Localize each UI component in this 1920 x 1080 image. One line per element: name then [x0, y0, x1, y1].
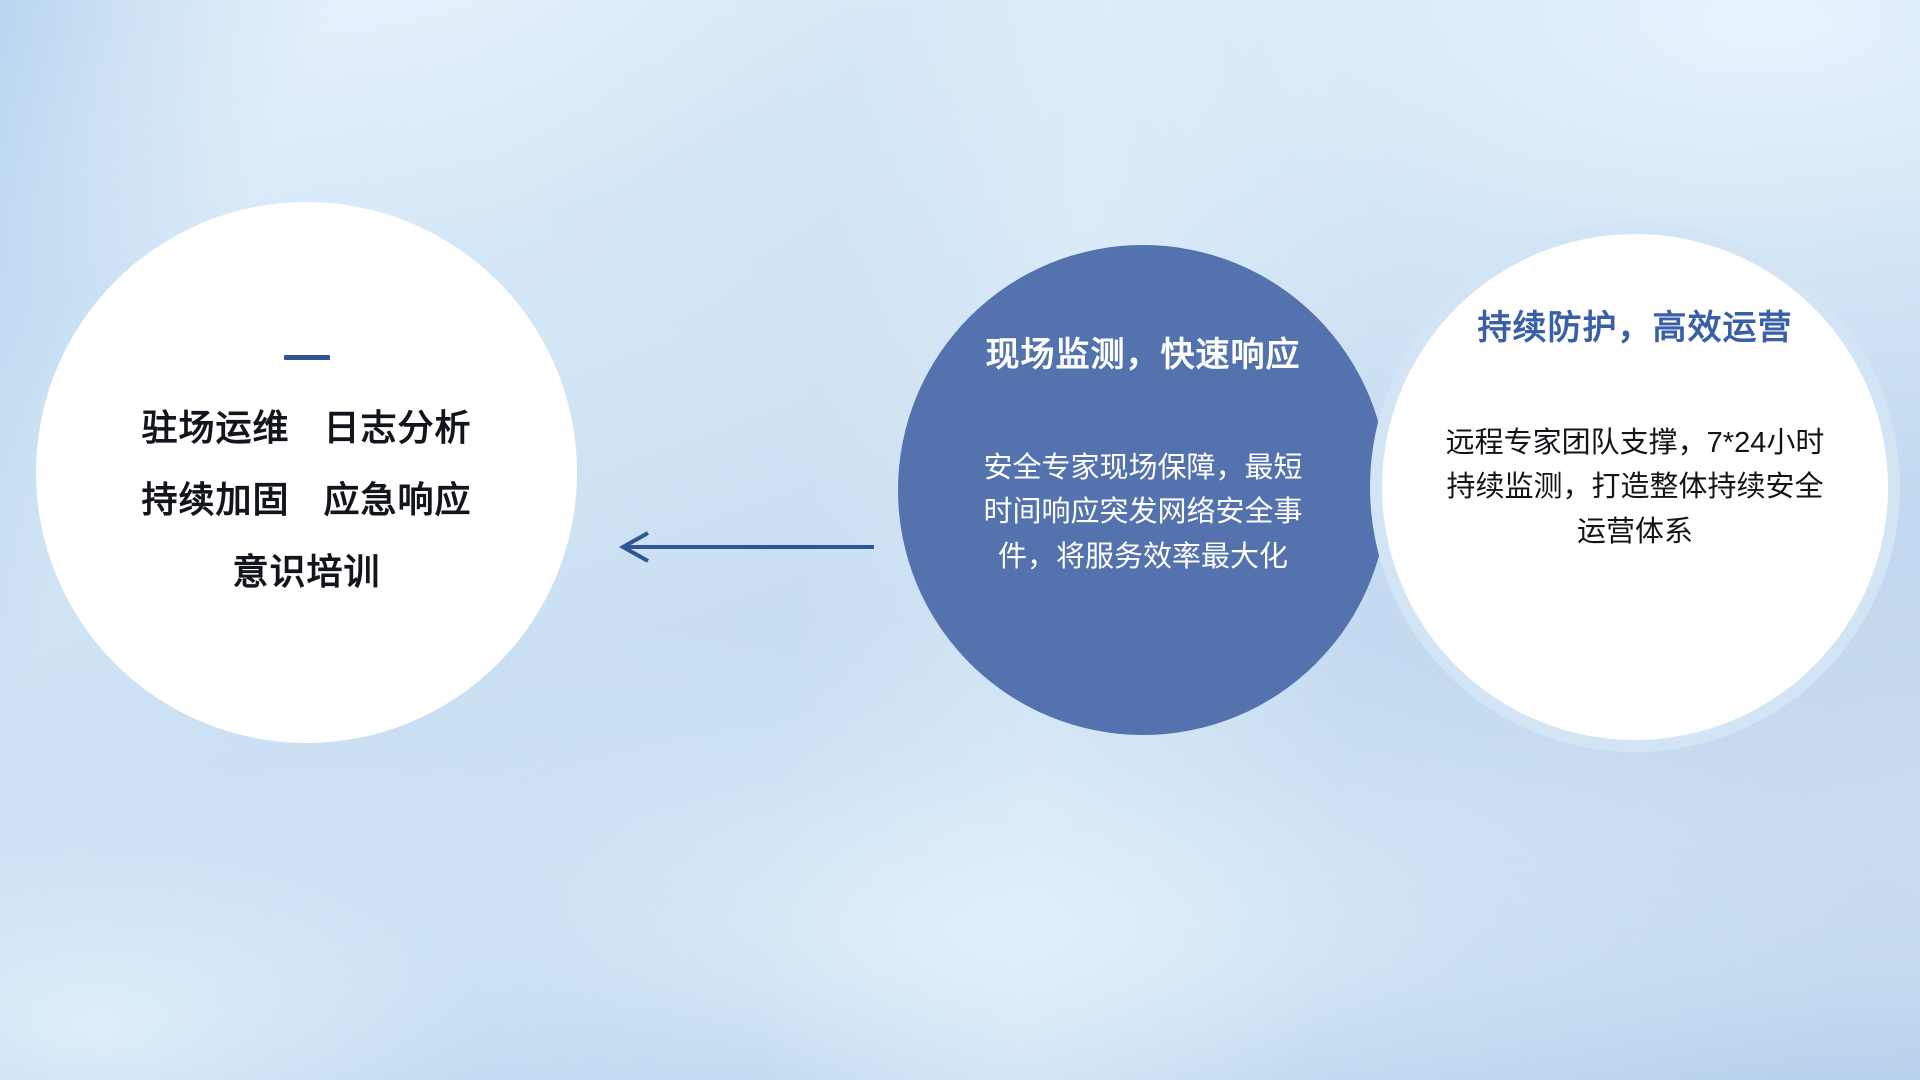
keyword-row-3: 意识培训 — [232, 554, 380, 590]
onsite-monitoring-heading: 现场监测，快速响应 — [986, 337, 1301, 374]
continuous-protection-heading: 持续防护，高效运营 — [1478, 310, 1793, 347]
continuous-protection-body: 远程专家团队支撑，7*24小时持续监测，打造整体持续安全运营体系 — [1433, 421, 1838, 553]
divider-dash — [284, 355, 330, 360]
keyword-zhuchangyunwei: 驻场运维 — [141, 410, 289, 446]
keyword-yishipeixun: 意识培训 — [232, 554, 380, 590]
keyword-rizhifenxi: 日志分析 — [324, 410, 472, 446]
continuous-protection-content: 持续防护，高效运营 远程专家团队支撑，7*24小时持续监测，打造整体持续安全运营… — [1382, 234, 1888, 740]
continuous-protection-circle[interactable]: 持续防护，高效运营 远程专家团队支撑，7*24小时持续监测，打造整体持续安全运营… — [1382, 234, 1888, 740]
keyword-row-1: 驻场运维 日志分析 — [141, 410, 471, 446]
onsite-monitoring-circle[interactable]: 现场监测，快速响应 安全专家现场保障，最短时间响应突发网络安全事件，将服务效率最… — [898, 245, 1388, 735]
capabilities-content: 驻场运维 日志分析 持续加固 应急响应 意识培训 — [36, 202, 577, 743]
capabilities-circle[interactable]: 驻场运维 日志分析 持续加固 应急响应 意识培训 — [36, 202, 577, 743]
keyword-row-2: 持续加固 应急响应 — [141, 482, 471, 518]
slide-canvas: 驻场运维 日志分析 持续加固 应急响应 意识培训 现场监测，快速响应 安全专家现… — [0, 0, 1920, 1080]
onsite-monitoring-body: 安全专家现场保障，最短时间响应突发网络安全事件，将服务效率最大化 — [978, 446, 1308, 578]
keyword-chixujiagu: 持续加固 — [141, 482, 289, 518]
onsite-monitoring-content: 现场监测，快速响应 安全专家现场保障，最短时间响应突发网络安全事件，将服务效率最… — [898, 245, 1388, 735]
keyword-yingjixiangying: 应急响应 — [324, 482, 472, 518]
